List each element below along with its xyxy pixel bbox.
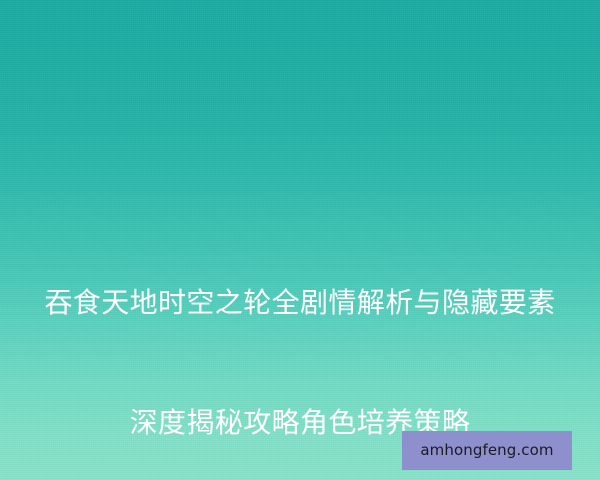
watermark-domain-text: amhongfeng.com <box>420 443 553 458</box>
image-canvas: 吞食天地时空之轮全剧情解析与隐藏要素 深度揭秘攻略角色培养策略 amhongfe… <box>0 0 600 480</box>
watermark-badge: amhongfeng.com <box>402 431 572 470</box>
headline-line-1: 吞食天地时空之轮全剧情解析与隐藏要素 <box>0 283 600 323</box>
